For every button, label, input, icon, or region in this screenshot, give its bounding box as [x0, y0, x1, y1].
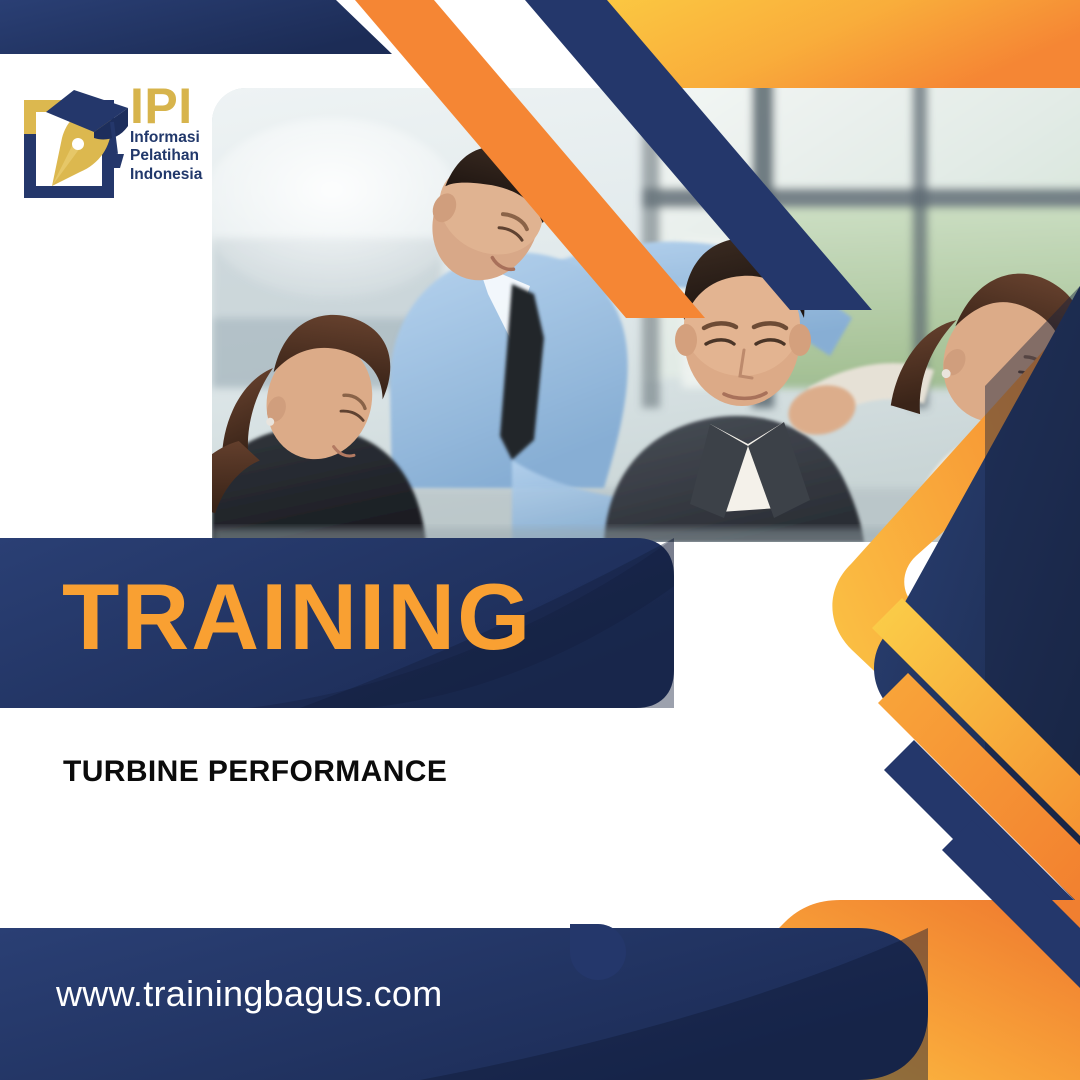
brand-tagline-line-1: Informasi [130, 129, 202, 148]
team-meeting-photo [212, 88, 1080, 542]
headline-training: TRAINING [62, 570, 532, 664]
brand-initials: IPI [130, 78, 193, 134]
website-url[interactable]: www.trainingbagus.com [56, 976, 442, 1012]
poster-canvas: IPI Informasi Pelatihan Indonesia TRAINI… [0, 0, 1080, 1080]
course-subtitle: TURBINE PERFORMANCE [63, 757, 447, 787]
graduation-cap-pen-nib-icon [16, 82, 128, 202]
brand-tagline-line-2: Pelatihan [130, 147, 202, 166]
brand-tagline: Informasi Pelatihan Indonesia [130, 129, 202, 185]
brand-wordmark: IPI Informasi Pelatihan Indonesia [130, 82, 202, 184]
brand-tagline-line-3: Indonesia [130, 166, 202, 185]
brand-logo[interactable]: IPI Informasi Pelatihan Indonesia [16, 82, 226, 207]
